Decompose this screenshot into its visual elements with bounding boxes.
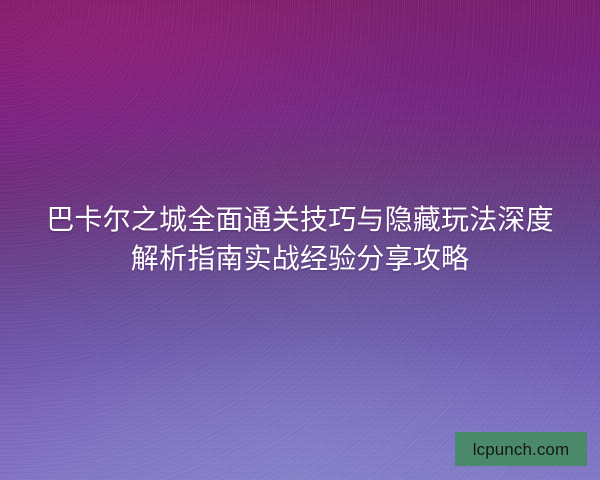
banner-title: 巴卡尔之城全面通关技巧与隐藏玩法深度 解析指南实战经验分享攻略: [0, 200, 600, 278]
banner-image: 巴卡尔之城全面通关技巧与隐藏玩法深度 解析指南实战经验分享攻略 lcpunch.…: [0, 0, 600, 480]
banner-title-line-2: 解析指南实战经验分享攻略: [24, 239, 576, 278]
watermark-badge: lcpunch.com: [455, 432, 587, 466]
banner-title-line-1: 巴卡尔之城全面通关技巧与隐藏玩法深度: [24, 200, 576, 239]
watermark-label: lcpunch.com: [473, 441, 570, 458]
